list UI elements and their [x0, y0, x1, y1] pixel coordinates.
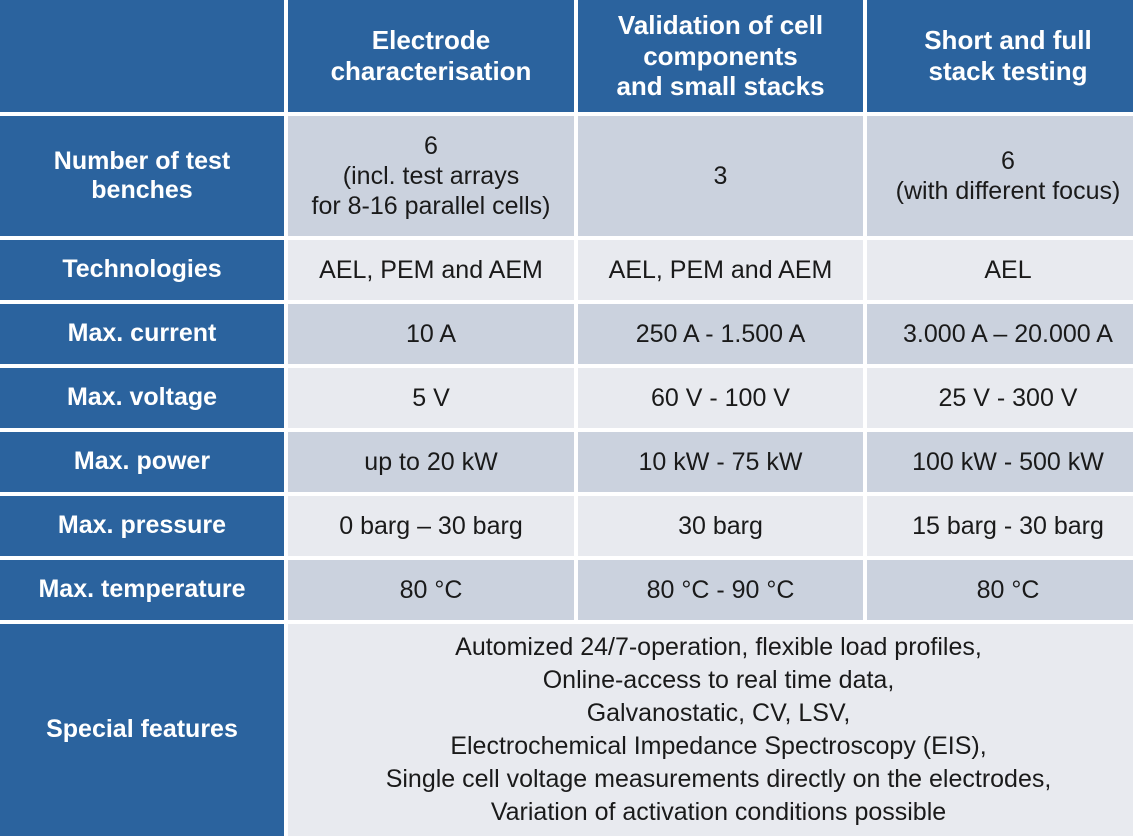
cell-benches-stack: 6 (with different focus)	[867, 116, 1133, 236]
cell-max-current-electrode: 10 A	[288, 304, 574, 364]
column-header-electrode-line-2: characterisation	[294, 56, 568, 87]
special-features-line-2: Online-access to real time data,	[294, 664, 1133, 697]
row-label-max-current: Max. current	[0, 304, 284, 364]
cell-line-3: for 8-16 parallel cells)	[294, 191, 568, 221]
cell-line-1: 3	[584, 161, 857, 191]
column-header-electrode-characterisation: Electrode characterisation	[288, 0, 574, 112]
column-header-validation-line-3: and small stacks	[584, 71, 857, 102]
cell-technologies-stack: AEL	[867, 240, 1133, 300]
cell-max-voltage-validation: 60 V - 100 V	[578, 368, 863, 428]
table-row-max-pressure: Max. pressure 0 barg – 30 barg 30 barg 1…	[0, 496, 1133, 556]
table-row-technologies: Technologies AEL, PEM and AEM AEL, PEM a…	[0, 240, 1133, 300]
cell-special-features-text: Automized 24/7-operation, flexible load …	[288, 624, 1133, 836]
cell-max-temperature-validation: 80 °C - 90 °C	[578, 560, 863, 620]
cell-benches-validation: 3	[578, 116, 863, 236]
cell-max-temperature-electrode: 80 °C	[288, 560, 574, 620]
cell-max-current-stack: 3.000 A – 20.000 A	[867, 304, 1133, 364]
cell-max-power-stack: 100 kW - 500 kW	[867, 432, 1133, 492]
table-row-max-current: Max. current 10 A 250 A - 1.500 A 3.000 …	[0, 304, 1133, 364]
special-features-line-6: Variation of activation conditions possi…	[294, 796, 1133, 829]
row-label-line-1: Number of test	[6, 147, 278, 177]
cell-line-1: 6	[294, 131, 568, 161]
cell-max-pressure-stack: 15 barg - 30 barg	[867, 496, 1133, 556]
cell-max-voltage-electrode: 5 V	[288, 368, 574, 428]
cell-max-temperature-stack: 80 °C	[867, 560, 1133, 620]
table-header: Electrode characterisation Validation of…	[0, 0, 1133, 112]
column-header-short-and-full-stack-testing: Short and full stack testing	[867, 0, 1133, 112]
table-row-max-temperature: Max. temperature 80 °C 80 °C - 90 °C 80 …	[0, 560, 1133, 620]
table-row-max-power: Max. power up to 20 kW 10 kW - 75 kW 100…	[0, 432, 1133, 492]
column-header-stack-line-1: Short and full	[873, 25, 1133, 56]
column-header-electrode-line-1: Electrode	[294, 25, 568, 56]
cell-technologies-validation: AEL, PEM and AEM	[578, 240, 863, 300]
row-label-line-2: benches	[6, 176, 278, 206]
column-header-validation-line-1: Validation of cell	[584, 10, 857, 41]
cell-line-2: (incl. test arrays	[294, 161, 568, 191]
table-body: Number of test benches 6 (incl. test arr…	[0, 116, 1133, 836]
special-features-line-5: Single cell voltage measurements directl…	[294, 763, 1133, 796]
row-label-max-temperature: Max. temperature	[0, 560, 284, 620]
header-row: Electrode characterisation Validation of…	[0, 0, 1133, 112]
row-label-technologies: Technologies	[0, 240, 284, 300]
row-label-number-of-test-benches: Number of test benches	[0, 116, 284, 236]
row-label-special-features: Special features	[0, 624, 284, 836]
cell-max-voltage-stack: 25 V - 300 V	[867, 368, 1133, 428]
row-label-max-voltage: Max. voltage	[0, 368, 284, 428]
table-row-max-voltage: Max. voltage 5 V 60 V - 100 V 25 V - 300…	[0, 368, 1133, 428]
cell-max-pressure-electrode: 0 barg – 30 barg	[288, 496, 574, 556]
cell-line-2: (with different focus)	[873, 176, 1133, 206]
table-row-number-of-test-benches: Number of test benches 6 (incl. test arr…	[0, 116, 1133, 236]
cell-technologies-electrode: AEL, PEM and AEM	[288, 240, 574, 300]
cell-max-current-validation: 250 A - 1.500 A	[578, 304, 863, 364]
special-features-line-4: Electrochemical Impedance Spectroscopy (…	[294, 730, 1133, 763]
cell-line-1: 6	[873, 146, 1133, 176]
cell-benches-electrode: 6 (incl. test arrays for 8-16 parallel c…	[288, 116, 574, 236]
header-corner-cell	[0, 0, 284, 112]
special-features-line-3: Galvanostatic, CV, LSV,	[294, 697, 1133, 730]
column-header-stack-line-2: stack testing	[873, 56, 1133, 87]
row-label-max-power: Max. power	[0, 432, 284, 492]
cell-max-power-electrode: up to 20 kW	[288, 432, 574, 492]
spec-table-container: Electrode characterisation Validation of…	[0, 0, 1133, 796]
test-bench-specification-table: Electrode characterisation Validation of…	[0, 0, 1133, 840]
column-header-validation-of-cell-components: Validation of cell components and small …	[578, 0, 863, 112]
column-header-validation-line-2: components	[584, 41, 857, 72]
cell-max-pressure-validation: 30 barg	[578, 496, 863, 556]
special-features-line-1: Automized 24/7-operation, flexible load …	[294, 631, 1133, 664]
table-row-special-features: Special features Automized 24/7-operatio…	[0, 624, 1133, 836]
cell-max-power-validation: 10 kW - 75 kW	[578, 432, 863, 492]
row-label-max-pressure: Max. pressure	[0, 496, 284, 556]
